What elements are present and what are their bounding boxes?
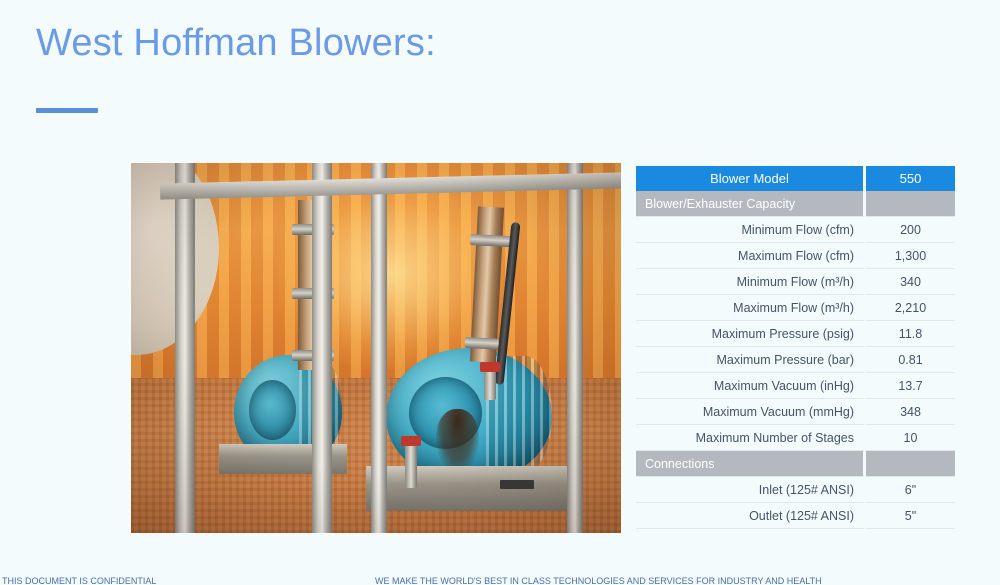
section-row-capacity: Blower/Exhauster Capacity <box>636 191 955 216</box>
table-row: Maximum Vacuum (mmHg) 348 <box>636 399 955 425</box>
row-label: Maximum Flow (cfm) <box>636 243 866 269</box>
row-value: 5" <box>866 503 955 529</box>
table-row: Minimum Flow (cfm) 200 <box>636 216 955 243</box>
header-cell-model-label: Blower Model <box>636 166 866 191</box>
blower-photo <box>131 163 621 533</box>
row-value: 6" <box>866 476 955 503</box>
footer-right-text: WE MAKE THE WORLD'S BEST IN CLASS TECHNO… <box>375 576 822 585</box>
footer-left-text: THIS DOCUMENT IS CONFIDENTIAL <box>2 576 156 585</box>
table-row: Maximum Pressure (bar) 0.81 <box>636 347 955 373</box>
row-value: 1,300 <box>866 243 955 269</box>
section-value-connections <box>866 451 955 476</box>
page-title: West Hoffman Blowers: <box>36 22 436 65</box>
row-label: Outlet (125# ANSI) <box>636 503 866 529</box>
row-label: Inlet (125# ANSI) <box>636 476 866 503</box>
row-value: 13.7 <box>866 373 955 399</box>
section-title-capacity: Blower/Exhauster Capacity <box>636 191 866 216</box>
header-cell-model-value: 550 <box>866 166 955 191</box>
row-label: Maximum Flow (m³/h) <box>636 295 866 321</box>
row-value: 10 <box>866 425 955 451</box>
row-label: Maximum Vacuum (mmHg) <box>636 399 866 425</box>
row-value: 2,210 <box>866 295 955 321</box>
table-row: Maximum Flow (m³/h) 2,210 <box>636 295 955 321</box>
row-value: 11.8 <box>866 321 955 347</box>
photo-vignette <box>131 163 621 533</box>
section-value-capacity <box>866 191 955 216</box>
title-accent-rule <box>36 108 98 113</box>
row-value: 340 <box>866 269 955 295</box>
table-row: Maximum Vacuum (inHg) 13.7 <box>636 373 955 399</box>
section-row-connections: Connections <box>636 451 955 476</box>
table-header-row: Blower Model 550 <box>636 166 955 191</box>
row-label: Maximum Pressure (psig) <box>636 321 866 347</box>
row-value: 0.81 <box>866 347 955 373</box>
table-row: Maximum Pressure (psig) 11.8 <box>636 321 955 347</box>
slide-footer: THIS DOCUMENT IS CONFIDENTIAL WE MAKE TH… <box>0 576 1000 585</box>
row-label: Maximum Number of Stages <box>636 425 866 451</box>
blower-spec-table: Blower Model 550 Blower/Exhauster Capaci… <box>636 166 955 529</box>
table-row: Inlet (125# ANSI) 6" <box>636 476 955 503</box>
table-row: Maximum Flow (cfm) 1,300 <box>636 243 955 269</box>
row-label: Minimum Flow (m³/h) <box>636 269 866 295</box>
row-label: Maximum Pressure (bar) <box>636 347 866 373</box>
table-row: Maximum Number of Stages 10 <box>636 425 955 451</box>
table-row: Minimum Flow (m³/h) 340 <box>636 269 955 295</box>
row-label: Maximum Vacuum (inHg) <box>636 373 866 399</box>
row-value: 200 <box>866 216 955 243</box>
section-title-connections: Connections <box>636 451 866 476</box>
table-row: Outlet (125# ANSI) 5" <box>636 503 955 529</box>
row-value: 348 <box>866 399 955 425</box>
row-label: Minimum Flow (cfm) <box>636 216 866 243</box>
